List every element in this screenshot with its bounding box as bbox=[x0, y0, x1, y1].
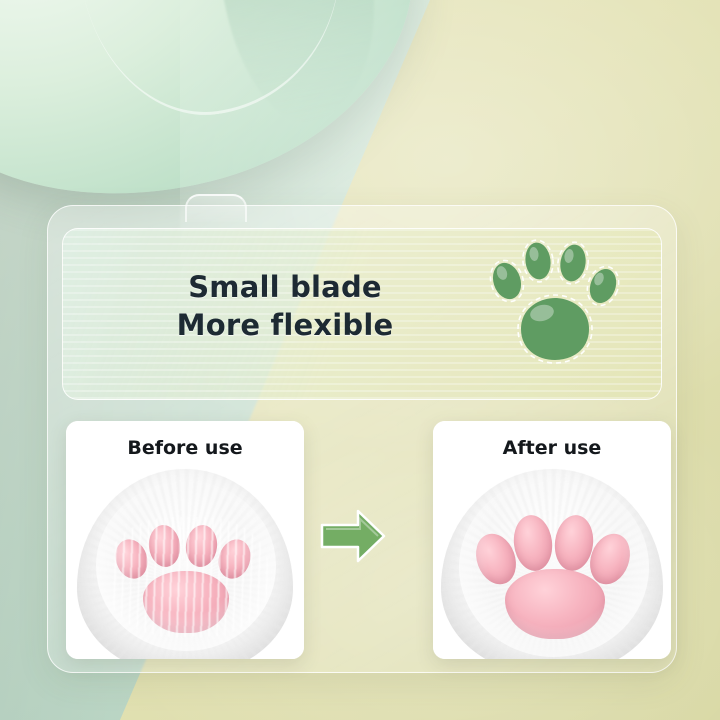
before-photo-card: Before use bbox=[66, 421, 304, 659]
arrow-right-icon bbox=[318, 505, 388, 567]
before-label: Before use bbox=[66, 437, 304, 459]
glass-panel-notch bbox=[185, 194, 247, 222]
after-photo-card: After use bbox=[433, 421, 671, 659]
headline-line-2: More flexible bbox=[120, 306, 450, 344]
headline-text: Small blade More flexible bbox=[120, 268, 450, 345]
headline-line-1: Small blade bbox=[120, 268, 450, 306]
product-infographic: Small blade More flexible bbox=[0, 0, 720, 720]
before-fur-vignette bbox=[96, 481, 276, 651]
after-label: After use bbox=[433, 437, 671, 459]
paw-print-icon bbox=[478, 237, 628, 372]
after-fur-vignette bbox=[459, 477, 649, 657]
